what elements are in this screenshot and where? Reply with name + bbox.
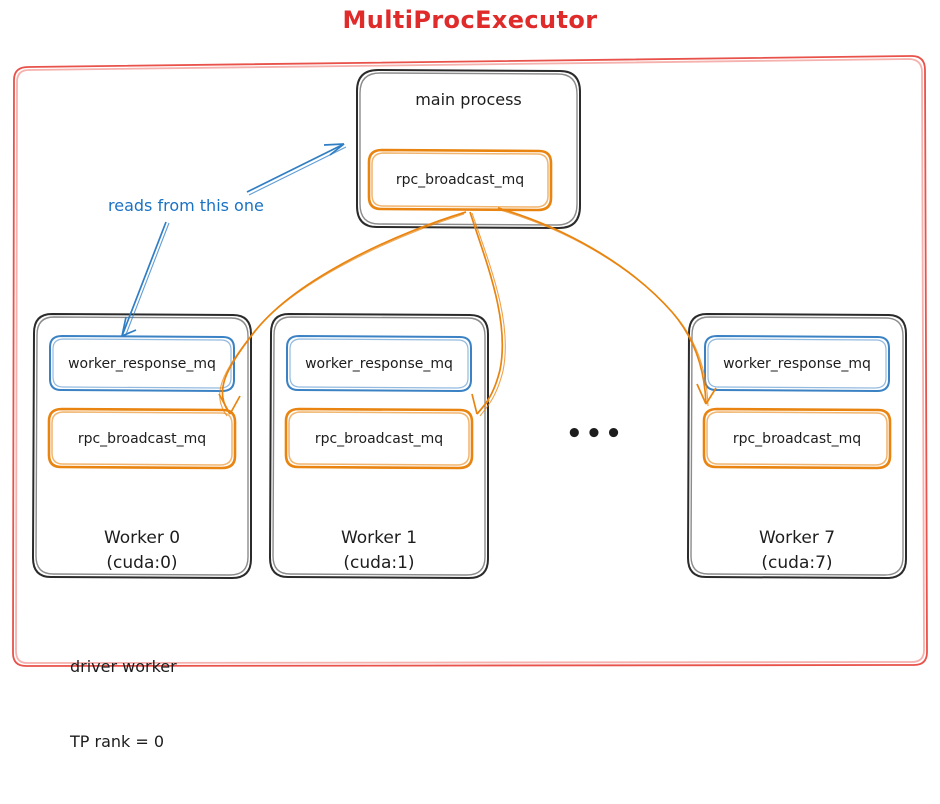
reads-from-this-one-annotation: reads from this one: [108, 196, 264, 215]
worker-7-broadcast-queue-label: rpc_broadcast_mq: [704, 409, 890, 468]
diagram-canvas: .sk { fill: none; stroke-linecap: round;…: [0, 0, 940, 680]
worker-7-device: (cuda:7): [688, 551, 906, 576]
main-process-label: main process: [357, 90, 580, 109]
workers-ellipsis: •••: [566, 419, 610, 449]
worker-0-response-queue-label: worker_response_mq: [50, 336, 234, 391]
worker-1-response-queue-label: worker_response_mq: [287, 336, 471, 391]
worker-7-response-queue-label: worker_response_mq: [705, 336, 889, 391]
worker-1-device: (cuda:1): [270, 551, 488, 576]
worker-0-broadcast-queue-box[interactable]: rpc_broadcast_mq: [49, 409, 235, 468]
worker-7-name: Worker 7: [688, 526, 906, 551]
worker-0-name: Worker 0: [33, 526, 251, 551]
worker-0-broadcast-queue-label: rpc_broadcast_mq: [49, 409, 235, 468]
page-title: MultiProcExecutor: [0, 6, 940, 34]
worker-7-broadcast-queue-box[interactable]: rpc_broadcast_mq: [704, 409, 890, 468]
worker-0-device: (cuda:0): [33, 551, 251, 576]
driver-worker-note: driver worker TP rank = 0: [70, 604, 177, 804]
driver-worker-note-line-1: driver worker: [70, 654, 177, 679]
worker-1-broadcast-queue-box[interactable]: rpc_broadcast_mq: [286, 409, 472, 468]
worker-1-broadcast-queue-label: rpc_broadcast_mq: [286, 409, 472, 468]
broadcast-arrow-to-worker-7: [498, 208, 716, 406]
worker-7-response-queue-box[interactable]: worker_response_mq: [705, 336, 889, 391]
main-process-queue-box[interactable]: rpc_broadcast_mq: [369, 150, 551, 210]
main-process-queue-label: rpc_broadcast_mq: [369, 150, 551, 210]
worker-0-response-queue-box[interactable]: worker_response_mq: [50, 336, 234, 391]
worker-1-name: Worker 1: [270, 526, 488, 551]
driver-worker-note-line-2: TP rank = 0: [70, 729, 177, 754]
reads-arrow-to-main-process: [247, 144, 346, 195]
worker-1-response-queue-box[interactable]: worker_response_mq: [287, 336, 471, 391]
